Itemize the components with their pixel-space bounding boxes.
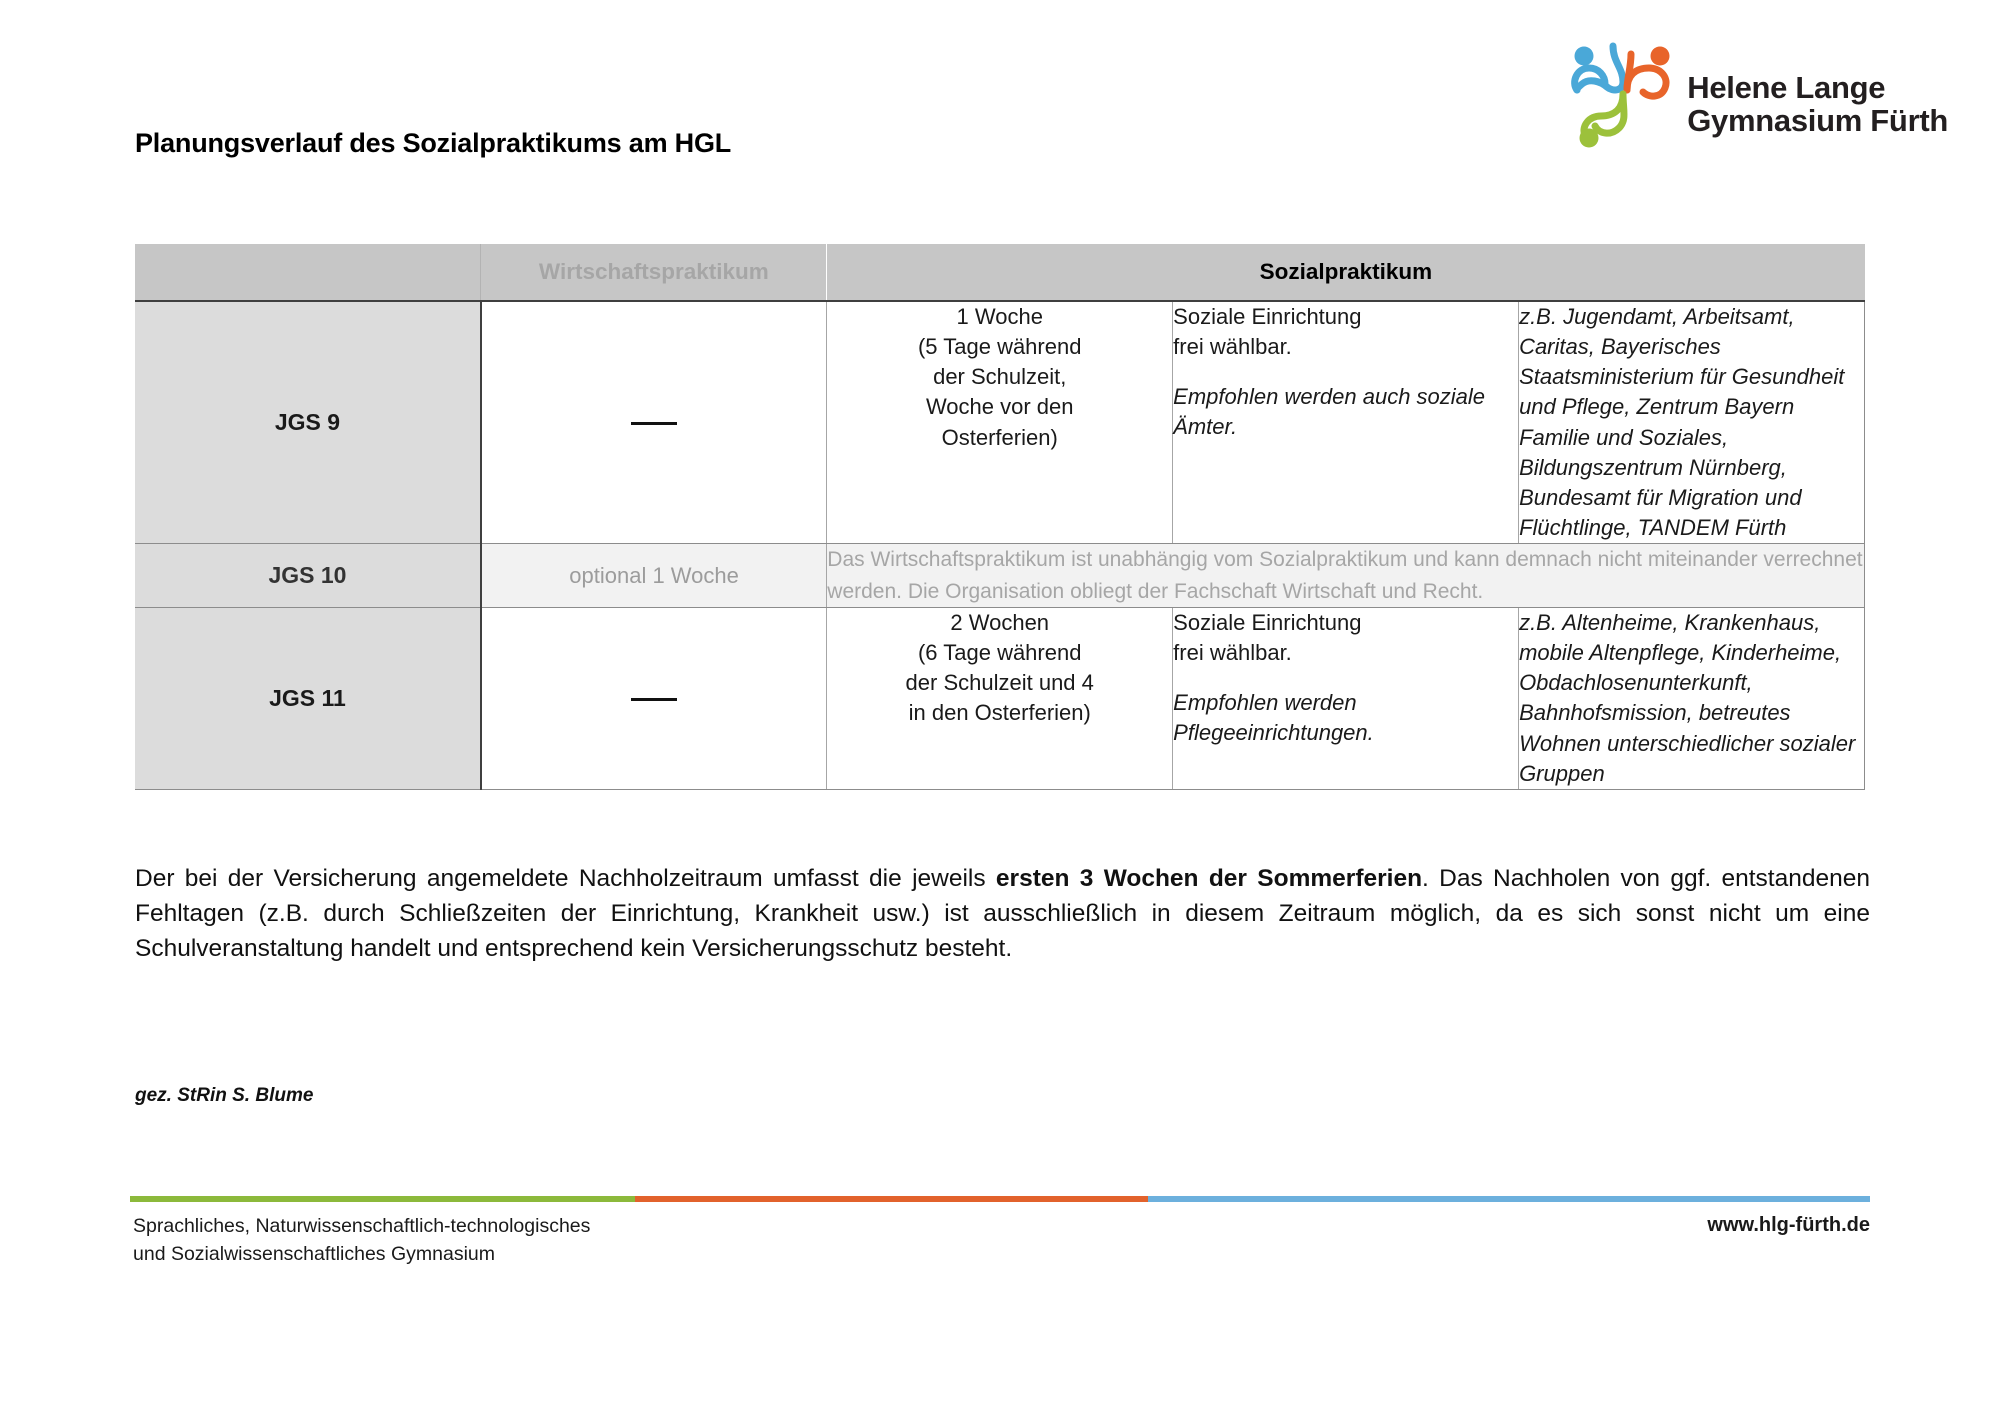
duration-main: 1 Woche [827, 302, 1172, 332]
table-row: JGS 9 1 Woche (5 Tage während der Schulz… [135, 301, 1865, 544]
duration-detail-3: in den Osterferien) [827, 698, 1172, 728]
paragraph-part-1: Der bei der Versicherung angemeldete Nac… [135, 865, 996, 892]
wirtschaft-cell-jgs10: optional 1 Woche [481, 544, 827, 608]
logo-wordmark: Helene Lange Gymnasium Fürth [1687, 44, 1948, 138]
practicum-overview-table: Wirtschaftspraktikum Sozialpraktikum JGS… [135, 244, 1865, 790]
wirtschaft-cell-jgs11 [481, 608, 827, 790]
header-corner [135, 244, 481, 301]
school-logo: Helene Lange Gymnasium Fürth [1569, 32, 1948, 150]
duration-detail-2: der Schulzeit, [827, 362, 1172, 392]
paragraph-highlight: ersten 3 Wochen der Sommerferien [996, 865, 1422, 892]
institution-cell-jgs9: Soziale Einrichtung frei wählbar. Empfoh… [1173, 301, 1519, 544]
hgl-people-logo-icon [1569, 32, 1677, 150]
logo-dot-orange [1651, 47, 1670, 66]
examples-cell-jgs11: z.B. Altenheime, Krankenhaus, mobile Alt… [1519, 608, 1865, 790]
logo-line-1: Helene Lange [1687, 72, 1948, 105]
grade-label-jgs9: JGS 9 [135, 301, 481, 544]
insurance-paragraph: Der bei der Versicherung angemeldete Nac… [135, 862, 1870, 966]
document-footer: Sprachliches, Naturwissenschaftlich-tech… [133, 1212, 1870, 1269]
duration-detail-4: Osterferien) [827, 423, 1172, 453]
footer-school-type: Sprachliches, Naturwissenschaftlich-tech… [133, 1212, 590, 1269]
header-wirtschaftspraktikum: Wirtschaftspraktikum [481, 244, 827, 301]
wirtschaft-cell-jgs9 [481, 301, 827, 544]
spacer [1173, 362, 1518, 382]
duration-cell-jgs11: 2 Wochen (6 Tage während der Schulzeit u… [827, 608, 1173, 790]
table-header-row: Wirtschaftspraktikum Sozialpraktikum [135, 244, 1865, 301]
duration-detail-2: der Schulzeit und 4 [827, 668, 1172, 698]
duration-cell-jgs9: 1 Woche (5 Tage während der Schulzeit, W… [827, 301, 1173, 544]
institution-note: Empfohlen werden Pflegeeinrichtungen. [1173, 688, 1518, 748]
footer-color-rule [130, 1196, 1870, 1202]
table-row: JGS 11 2 Wochen (6 Tage während der Schu… [135, 608, 1865, 790]
em-dash-icon [631, 422, 677, 425]
table-row: JGS 10 optional 1 Woche Das Wirtschaftsp… [135, 544, 1865, 608]
note-cell-jgs10: Das Wirtschaftspraktikum ist unabhängig … [827, 544, 1865, 608]
institution-line-1: Soziale Einrichtung [1173, 608, 1518, 638]
signature-line: gez. StRin S. Blume [135, 1085, 313, 1107]
institution-line-1: Soziale Einrichtung [1173, 302, 1518, 332]
logo-dot-blue [1575, 47, 1594, 66]
document-header: Planungsverlauf des Sozialpraktikums am … [0, 0, 2000, 180]
institution-note: Empfohlen werden auch soziale Ämter. [1173, 382, 1518, 442]
grade-label-jgs10: JGS 10 [135, 544, 481, 608]
duration-detail-1: (6 Tage während [827, 638, 1172, 668]
page-title: Planungsverlauf des Sozialpraktikums am … [135, 128, 731, 159]
duration-detail-3: Woche vor den [827, 392, 1172, 422]
grade-label-jgs11: JGS 11 [135, 608, 481, 790]
rule-segment-blue [1148, 1196, 1870, 1202]
examples-cell-jgs9: z.B. Jugendamt, Arbeitsamt, Caritas, Bay… [1519, 301, 1865, 544]
institution-line-2: frei wählbar. [1173, 638, 1518, 668]
em-dash-icon [631, 698, 677, 701]
header-sozialpraktikum: Sozialpraktikum [827, 244, 1865, 301]
institution-line-2: frei wählbar. [1173, 332, 1518, 362]
rule-segment-green [130, 1196, 635, 1202]
logo-dot-green [1580, 129, 1599, 148]
table-head: Wirtschaftspraktikum Sozialpraktikum [135, 244, 1865, 301]
footer-line-1: Sprachliches, Naturwissenschaftlich-tech… [133, 1212, 590, 1240]
institution-cell-jgs11: Soziale Einrichtung frei wählbar. Empfoh… [1173, 608, 1519, 790]
logo-line-2: Gymnasium Fürth [1687, 105, 1948, 138]
duration-main: 2 Wochen [827, 608, 1172, 638]
footer-website[interactable]: www.hlg-fürth.de [1707, 1212, 1870, 1237]
spacer [1173, 668, 1518, 688]
duration-detail-1: (5 Tage während [827, 332, 1172, 362]
table-body: JGS 9 1 Woche (5 Tage während der Schulz… [135, 301, 1865, 789]
footer-line-2: und Sozialwissenschaftliches Gymnasium [133, 1240, 590, 1268]
rule-segment-orange [635, 1196, 1148, 1202]
